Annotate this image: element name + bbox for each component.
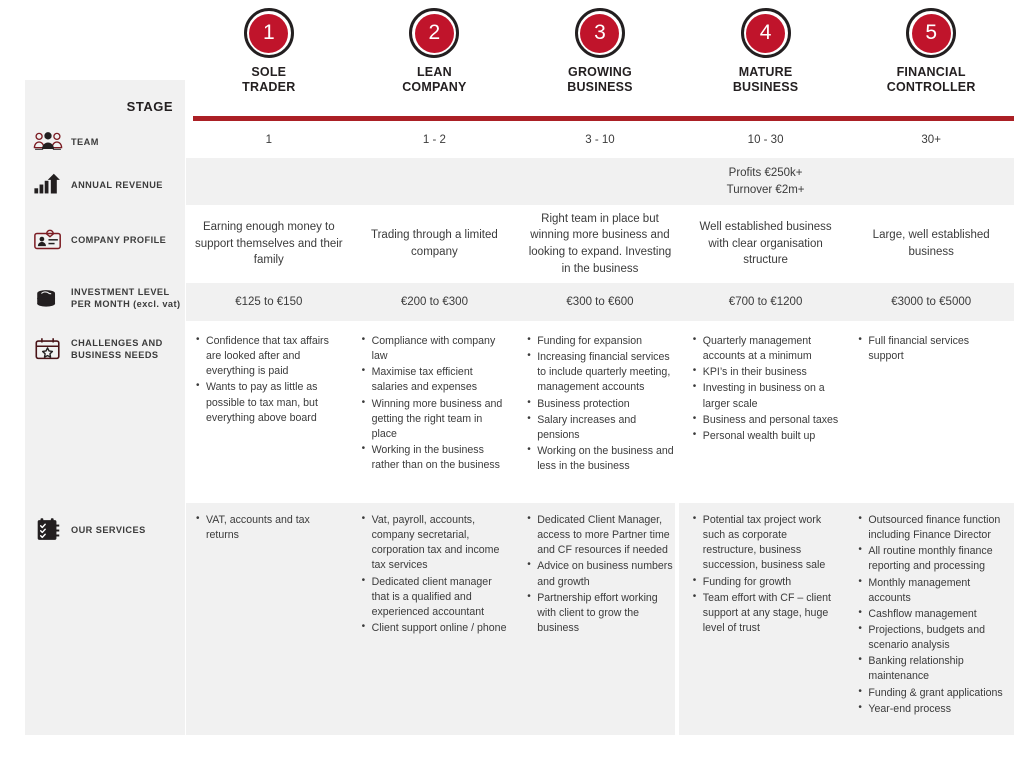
row-challenges: Confidence that tax affairs are looked a… bbox=[186, 324, 1014, 499]
stage-number: 5 bbox=[912, 14, 951, 53]
row-label-annual-revenue-text: ANNUAL REVENUE bbox=[71, 179, 163, 191]
bullet-item: VAT, accounts and tax returns bbox=[196, 513, 343, 543]
bullet-item: Working on the business and less in the … bbox=[527, 444, 674, 474]
row-label-investment-level: INVESTMENT LEVELPER MONTH (excl. vat) bbox=[33, 284, 185, 312]
bullet-item: Partnership effort working with client t… bbox=[527, 591, 674, 636]
bullet-item: Business protection bbox=[527, 397, 674, 412]
row-label-company-profile-text: COMPANY PROFILE bbox=[71, 234, 166, 246]
row-our-services: VAT, accounts and tax returns Vat, payro… bbox=[186, 503, 1014, 735]
stage-number-badge: 4 bbox=[741, 8, 791, 58]
cell-services-4: Potential tax project work such as corpo… bbox=[683, 503, 849, 735]
bullet-item: Investing in business on a larger scale bbox=[693, 381, 840, 411]
stage-number-badge: 5 bbox=[906, 8, 956, 58]
stage-header-5[interactable]: 5 FINANCIALCONTROLLER bbox=[848, 8, 1014, 118]
row-company-profile: Earning enough money to support themselv… bbox=[186, 208, 1014, 280]
stage-number-badge: 3 bbox=[575, 8, 625, 58]
bullet-item: Compliance with company law bbox=[362, 334, 509, 364]
row-investment-level: €125 to €150 €200 to €300 €300 to €600 €… bbox=[186, 283, 1014, 321]
row-label-challenges-text: CHALLENGES ANDBUSINESS NEEDS bbox=[71, 337, 163, 361]
stage-title: SOLETRADER bbox=[242, 65, 295, 94]
bullet-list: Full financial services support bbox=[858, 334, 1005, 364]
stage-number: 3 bbox=[580, 14, 619, 53]
stage-title: GROWINGBUSINESS bbox=[567, 65, 633, 94]
bullet-item: Business and personal taxes bbox=[693, 413, 840, 428]
checklist-icon bbox=[33, 516, 63, 544]
cell-challenges-5: Full financial services support bbox=[848, 324, 1014, 499]
bullet-item: Funding for expansion bbox=[527, 334, 674, 349]
bullet-item: Team effort with CF – client support at … bbox=[693, 591, 840, 636]
bullet-item: Salary increases and pensions bbox=[527, 413, 674, 443]
cell-investment-2: €200 to €300 bbox=[352, 283, 518, 321]
cell-services-2: Vat, payroll, accounts, company secretar… bbox=[352, 503, 518, 735]
bullet-list: VAT, accounts and tax returns bbox=[196, 513, 343, 543]
id-card-icon bbox=[33, 226, 63, 254]
bullet-item: KPI’s in their business bbox=[693, 365, 840, 380]
cell-challenges-1: Confidence that tax affairs are looked a… bbox=[186, 324, 352, 499]
stage-comparison-table: STAGE TEAM AN bbox=[0, 0, 1024, 768]
header-red-divider bbox=[193, 116, 1014, 121]
row-label-challenges: CHALLENGES ANDBUSINESS NEEDS bbox=[33, 335, 185, 363]
stage-header-label: STAGE bbox=[127, 99, 173, 114]
calendar-star-icon bbox=[33, 335, 63, 363]
stage-header-1[interactable]: 1 SOLETRADER bbox=[186, 8, 352, 118]
row-label-company-profile: COMPANY PROFILE bbox=[33, 226, 185, 254]
bullet-item: Cashflow management bbox=[858, 607, 1005, 622]
stage-number: 1 bbox=[249, 14, 288, 53]
stage-number-badge: 1 bbox=[244, 8, 294, 58]
bullet-item: Working in the business rather than on t… bbox=[362, 443, 509, 473]
bullet-item: Banking relationship maintenance bbox=[858, 654, 1005, 684]
bullet-list: Potential tax project work such as corpo… bbox=[693, 513, 840, 636]
bullet-list: Funding for expansionIncreasing financia… bbox=[527, 334, 674, 474]
bullet-item: Vat, payroll, accounts, company secretar… bbox=[362, 513, 509, 574]
cell-challenges-4: Quarterly management accounts at a minim… bbox=[683, 324, 849, 499]
stage-header-4[interactable]: 4 MATUREBUSINESS bbox=[683, 8, 849, 118]
bullet-item: Dedicated Client Manager, access to more… bbox=[527, 513, 674, 558]
row-team: 1 1 - 2 3 - 10 10 - 30 30+ bbox=[186, 125, 1014, 155]
cell-services-3: Dedicated Client Manager, access to more… bbox=[517, 503, 683, 735]
cell-team-5: 30+ bbox=[848, 125, 1014, 155]
bullet-item: Winning more business and getting the ri… bbox=[362, 397, 509, 442]
bullet-item: Projections, budgets and scenario analys… bbox=[858, 623, 1005, 653]
cell-challenges-3: Funding for expansionIncreasing financia… bbox=[517, 324, 683, 499]
cell-team-1: 1 bbox=[186, 125, 352, 155]
bullet-item: Confidence that tax affairs are looked a… bbox=[196, 334, 343, 379]
stage-number: 4 bbox=[746, 14, 785, 53]
bullet-item: Year-end process bbox=[858, 702, 1005, 717]
stage-title: MATUREBUSINESS bbox=[733, 65, 799, 94]
row-label-our-services: OUR SERVICES bbox=[33, 516, 185, 544]
cell-investment-5: €3000 to €5000 bbox=[848, 283, 1014, 321]
bar-chart-arrow-icon bbox=[33, 171, 63, 199]
cell-team-2: 1 - 2 bbox=[352, 125, 518, 155]
stage-number: 2 bbox=[415, 14, 454, 53]
cell-annual-revenue-3 bbox=[517, 158, 683, 205]
cell-team-4: 10 - 30 bbox=[683, 125, 849, 155]
bullet-item: Dedicated client manager that is a quali… bbox=[362, 575, 509, 620]
column-seam bbox=[675, 503, 679, 735]
cell-services-1: VAT, accounts and tax returns bbox=[186, 503, 352, 735]
bullet-item: Client support online / phone bbox=[362, 621, 509, 636]
cell-investment-1: €125 to €150 bbox=[186, 283, 352, 321]
bullet-item: Funding & grant applications bbox=[858, 686, 1005, 701]
cell-team-3: 3 - 10 bbox=[517, 125, 683, 155]
stage-header-3[interactable]: 3 GROWINGBUSINESS bbox=[517, 8, 683, 118]
row-label-annual-revenue: ANNUAL REVENUE bbox=[33, 171, 185, 199]
cell-services-5: Outsourced finance function including Fi… bbox=[848, 503, 1014, 735]
row-label-our-services-text: OUR SERVICES bbox=[71, 524, 146, 536]
row-label-investment-level-text: INVESTMENT LEVELPER MONTH (excl. vat) bbox=[71, 286, 181, 310]
cell-company-profile-4: Well established business with clear org… bbox=[683, 208, 849, 280]
cell-investment-4: €700 to €1200 bbox=[683, 283, 849, 321]
bullet-item: Maximise tax efficient salaries and expe… bbox=[362, 365, 509, 395]
bullet-item: Wants to pay as little as possible to ta… bbox=[196, 380, 343, 425]
cell-company-profile-5: Large, well established business bbox=[848, 208, 1014, 280]
bullet-list: Vat, payroll, accounts, company secretar… bbox=[362, 513, 509, 636]
cell-company-profile-3: Right team in place but winning more bus… bbox=[517, 208, 683, 280]
stage-number-badge: 2 bbox=[409, 8, 459, 58]
stage-header-row: 1 SOLETRADER 2 LEANCOMPANY 3 GROWINGBUSI… bbox=[186, 8, 1014, 118]
bullet-list: Quarterly management accounts at a minim… bbox=[693, 334, 840, 444]
bullet-list: Confidence that tax affairs are looked a… bbox=[196, 334, 343, 426]
bullet-list: Compliance with company lawMaximise tax … bbox=[362, 334, 509, 473]
bullet-item: Potential tax project work such as corpo… bbox=[693, 513, 840, 574]
bullet-item: Full financial services support bbox=[858, 334, 1005, 364]
bullet-item: Increasing financial services to include… bbox=[527, 350, 674, 395]
row-label-team: TEAM bbox=[33, 128, 185, 156]
stage-title: LEANCOMPANY bbox=[402, 65, 466, 94]
cell-annual-revenue-1 bbox=[186, 158, 352, 205]
bullet-item: Monthly management accounts bbox=[858, 576, 1005, 606]
bullet-item: Advice on business numbers and growth bbox=[527, 559, 674, 589]
bullet-item: Personal wealth built up bbox=[693, 429, 840, 444]
bullet-item: Funding for growth bbox=[693, 575, 840, 590]
cell-annual-revenue-4: Profits €250k+ Turnover €2m+ bbox=[683, 158, 849, 205]
stage-title: FINANCIALCONTROLLER bbox=[887, 65, 976, 94]
cell-challenges-2: Compliance with company lawMaximise tax … bbox=[352, 324, 518, 499]
bullet-item: All routine monthly finance reporting an… bbox=[858, 544, 1005, 574]
cell-company-profile-2: Trading through a limited company bbox=[352, 208, 518, 280]
bullet-item: Outsourced finance function including Fi… bbox=[858, 513, 1005, 543]
row-label-team-text: TEAM bbox=[71, 136, 99, 148]
cell-annual-revenue-2 bbox=[352, 158, 518, 205]
coins-stack-icon bbox=[33, 284, 63, 312]
row-annual-revenue: Profits €250k+ Turnover €2m+ bbox=[186, 158, 1014, 205]
column-seam bbox=[675, 324, 679, 499]
row-label-column: STAGE TEAM AN bbox=[25, 80, 185, 735]
bullet-item: Quarterly management accounts at a minim… bbox=[693, 334, 840, 364]
cell-company-profile-1: Earning enough money to support themselv… bbox=[186, 208, 352, 280]
cell-annual-revenue-5 bbox=[848, 158, 1014, 205]
cell-investment-3: €300 to €600 bbox=[517, 283, 683, 321]
team-icon bbox=[33, 128, 63, 156]
bullet-list: Outsourced finance function including Fi… bbox=[858, 513, 1005, 717]
stage-header-2[interactable]: 2 LEANCOMPANY bbox=[352, 8, 518, 118]
bullet-list: Dedicated Client Manager, access to more… bbox=[527, 513, 674, 636]
